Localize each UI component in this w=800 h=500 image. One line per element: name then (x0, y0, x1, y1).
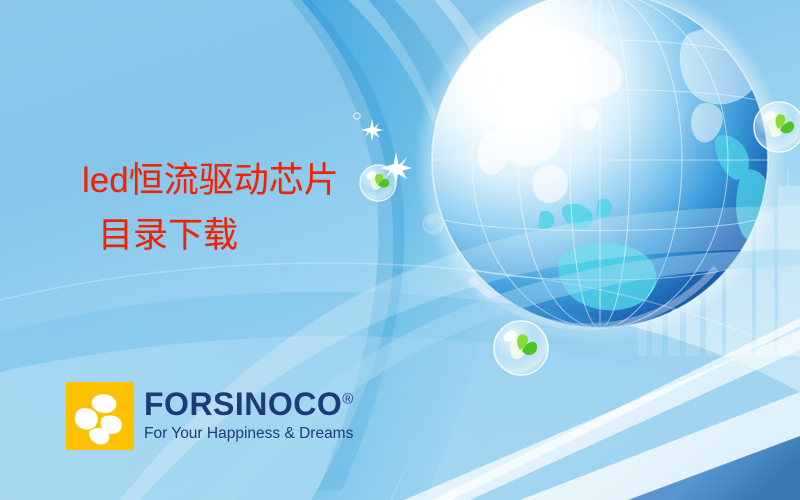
registered-trademark-icon: ® (342, 391, 354, 408)
headline-line-2: 目录下载 (98, 217, 339, 254)
logo-company-name: FORSINOCO® (144, 388, 354, 420)
logo-wordmark: FORSINOCO® For Your Happiness & Dreams (144, 388, 354, 444)
four-petal-icon (66, 382, 134, 450)
promo-banner: led恒流驱动芯片 目录下载 FORSINOCO® For Your Happi… (0, 0, 800, 500)
company-logo[interactable]: FORSINOCO® For Your Happiness & Dreams (66, 382, 354, 450)
logo-tagline: For Your Happiness & Dreams (144, 426, 354, 442)
logo-petal-mark (66, 382, 134, 450)
headline-line-1: led恒流驱动芯片 (82, 162, 339, 199)
headline-text: led恒流驱动芯片 目录下载 (82, 162, 339, 254)
logo-company-name-text: FORSINOCO (144, 386, 342, 422)
